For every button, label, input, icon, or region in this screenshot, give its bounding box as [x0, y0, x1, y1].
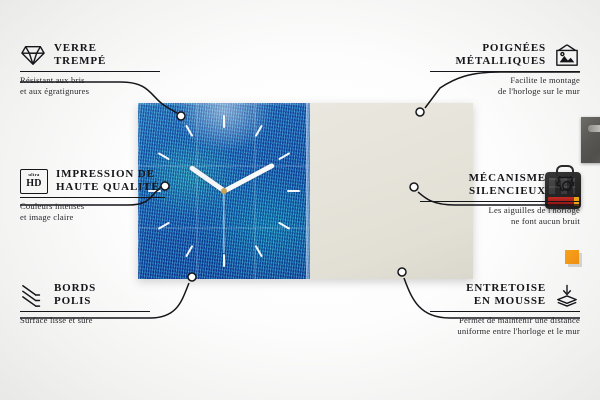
hour-marker [185, 191, 225, 258]
hour-hand [188, 165, 225, 193]
feature-desc-line2: de l'horloge sur le mur [498, 86, 580, 96]
feature-desc-line1: Surface lisse et sûre [20, 315, 93, 325]
feature-divider [420, 201, 580, 202]
feature-title-line2: MÉTALLIQUES [456, 55, 546, 67]
feature-description: Facilite le montage de l'horloge sur le … [430, 75, 580, 96]
feature-title-line2: POLIS [54, 295, 91, 307]
hour-marker [158, 190, 225, 230]
feature-title-line1: ENTRETOISE [466, 282, 546, 294]
feature-divider [20, 197, 165, 198]
hour-marker [223, 191, 263, 258]
feature-title-line2: HAUTE QUALITÉ [56, 181, 160, 193]
feature-title: ENTRETOISE EN MOUSSE [466, 282, 546, 308]
feature-header: ENTRETOISE EN MOUSSE [430, 282, 580, 308]
ultra-hd-icon-main-text: HD [26, 179, 41, 189]
feature-title-line2: SILENCIEUX [469, 185, 546, 197]
hanger-slot [588, 125, 600, 132]
gear-icon [554, 173, 580, 197]
feature-header: VERRE TREMPÉ [20, 42, 160, 68]
feature-impression-haute-qualite: ultra HD IMPRESSION DE HAUTE QUALITÉ Cou… [20, 168, 165, 222]
hour-marker [223, 125, 263, 192]
polished-edges-icon [20, 283, 46, 307]
feature-title-line1: VERRE [54, 42, 97, 54]
hands-center-cap [221, 188, 227, 194]
feature-divider [20, 311, 150, 312]
feature-header: ultra HD IMPRESSION DE HAUTE QUALITÉ [20, 168, 165, 194]
hour-marker [224, 190, 300, 192]
feature-description: Permet de maintenir une distance uniform… [430, 315, 580, 336]
feature-description: Les aiguilles de l'horloge ne font aucun… [420, 205, 580, 226]
foam-spacer-icon [554, 283, 580, 307]
feature-description: Surface lisse et sûre [20, 315, 150, 326]
hour-marker [158, 152, 225, 192]
feature-desc-line1: Les aiguilles de l'horloge [489, 205, 580, 215]
feature-description: Résistant aux bris et aux égratignures [20, 75, 160, 96]
feature-desc-line2: uniforme entre l'horloge et le mur [457, 326, 580, 336]
feature-title: MÉCANISME SILENCIEUX [469, 172, 546, 198]
hour-marker [185, 125, 225, 192]
feature-desc-line1: Résistant aux bris [20, 75, 85, 85]
feature-mecanisme-silencieux: MÉCANISME SILENCIEUX Les aiguilles de l'… [420, 172, 580, 226]
orange-foam-spacer [565, 250, 579, 264]
second-hand [223, 191, 224, 253]
feature-title-line2: EN MOUSSE [474, 295, 546, 307]
feature-header: MÉCANISME SILENCIEUX [420, 172, 580, 198]
feature-title-line1: MÉCANISME [469, 172, 546, 184]
feature-title-line1: BORDS [54, 282, 96, 294]
feature-poignees-metalliques: POIGNÉES MÉTALLIQUES Facilite le montage… [430, 42, 580, 96]
hour-marker [224, 152, 291, 192]
feature-divider [20, 71, 160, 72]
feature-desc-line2: ne font aucun bruit [511, 216, 580, 226]
feature-desc-line1: Couleurs intenses [20, 201, 84, 211]
metal-hanger-plate [581, 117, 600, 163]
feature-bords-polis: BORDS POLIS Surface lisse et sûre [20, 282, 150, 326]
feature-divider [430, 71, 580, 72]
feature-title: POIGNÉES MÉTALLIQUES [456, 42, 546, 68]
feature-title: BORDS POLIS [54, 282, 96, 308]
hour-marker [224, 190, 291, 230]
feature-title-line2: TREMPÉ [54, 55, 106, 67]
feature-title: IMPRESSION DE HAUTE QUALITÉ [56, 168, 160, 194]
diamond-icon [20, 43, 46, 67]
feature-header: POIGNÉES MÉTALLIQUES [430, 42, 580, 68]
feature-desc-line2: et image claire [20, 212, 74, 222]
picture-hanger-icon [554, 43, 580, 67]
feature-desc-line1: Facilite le montage [510, 75, 580, 85]
feature-header: BORDS POLIS [20, 282, 150, 308]
feature-title: VERRE TREMPÉ [54, 42, 106, 68]
feature-divider [430, 311, 580, 312]
feature-description: Couleurs intenses et image claire [20, 201, 165, 222]
minute-hand [223, 163, 275, 194]
feature-desc-line1: Permet de maintenir une distance [459, 315, 580, 325]
hour-marker [223, 191, 225, 267]
hour-marker [223, 115, 225, 191]
feature-title-line1: IMPRESSION DE [56, 168, 155, 180]
ultra-hd-icon: ultra HD [20, 169, 48, 194]
feature-entretoise-en-mousse: ENTRETOISE EN MOUSSE Permet de maintenir… [430, 282, 580, 336]
feature-desc-line2: et aux égratignures [20, 86, 89, 96]
feature-verre-trempe: VERRE TREMPÉ Résistant aux bris et aux é… [20, 42, 160, 96]
feature-title-line1: POIGNÉES [482, 42, 546, 54]
infographic-canvas: VERRE TREMPÉ Résistant aux bris et aux é… [0, 0, 600, 400]
